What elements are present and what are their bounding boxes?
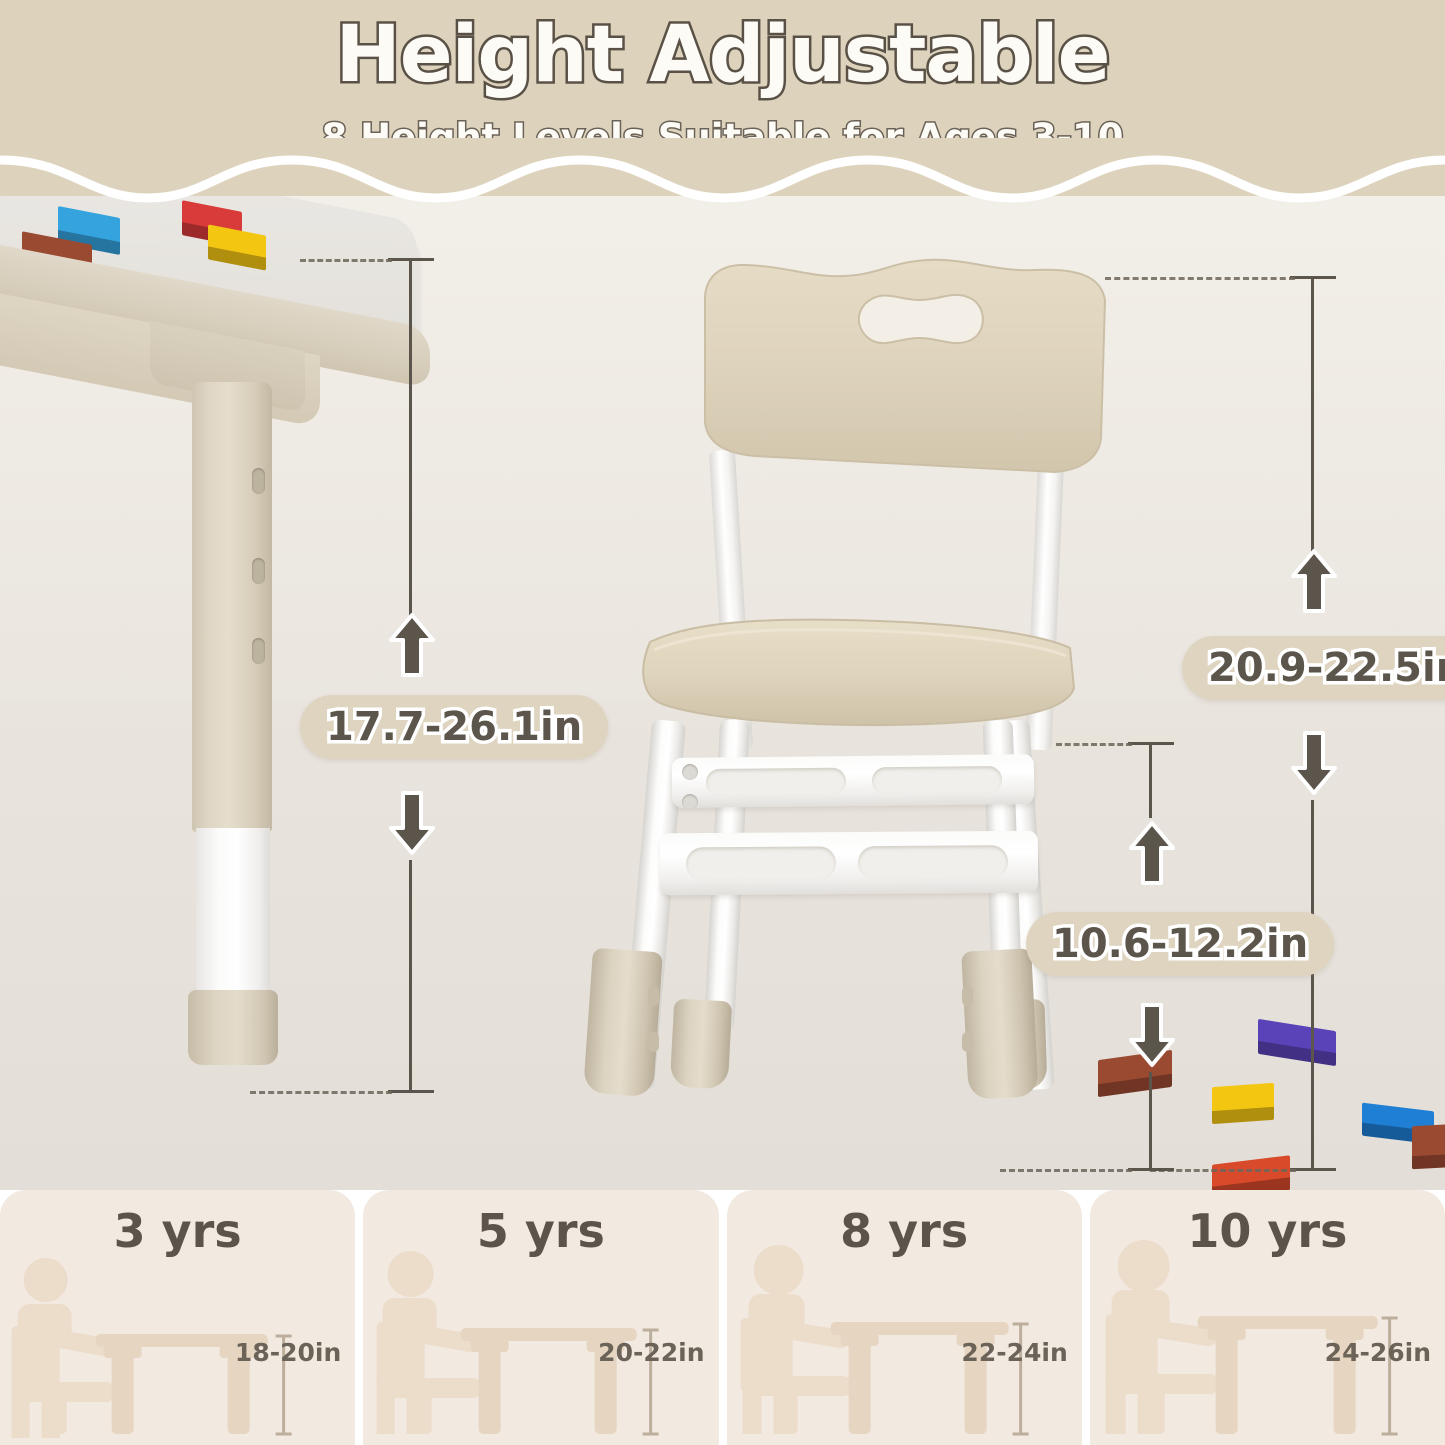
age-card-dimension: 18-20in xyxy=(235,1338,341,1367)
chair-backrest xyxy=(695,256,1115,491)
chair-foot-notch xyxy=(648,986,659,1006)
age-card-dimension: 22-24in xyxy=(961,1338,1067,1367)
label-chair-total-height: 20.9-22.5in xyxy=(1182,636,1445,700)
block-yellow xyxy=(1212,1083,1274,1113)
age-card-10yrs[interactable]: 10 yrs xyxy=(1090,1190,1445,1445)
age-card-5yrs[interactable]: 5 yrs xyxy=(363,1190,718,1445)
age-cards-row: 3 yrs xyxy=(0,1190,1445,1445)
chair-foot-front-right xyxy=(961,948,1039,1099)
scalloped-divider xyxy=(0,138,1445,206)
leg-adjust-hole xyxy=(252,468,265,494)
chair-brace-lower xyxy=(660,831,1038,896)
chair-screw xyxy=(682,764,698,780)
age-card-dimension: 24-26in xyxy=(1325,1338,1431,1367)
label-chair-total-height-text: 20.9-22.5in xyxy=(1208,645,1445,691)
arrow-up-icon xyxy=(1290,548,1338,614)
leg-adjust-hole xyxy=(252,558,265,584)
backrest-shape xyxy=(705,260,1105,472)
chair-foot-notch xyxy=(962,986,973,1006)
chair-seat xyxy=(628,608,1088,738)
arrow-down-icon xyxy=(388,790,436,856)
table-leg-upper xyxy=(192,382,272,832)
label-chair-seat-height-text: 10.6-12.2in xyxy=(1052,921,1308,967)
chair-screw xyxy=(682,794,698,810)
arrow-down-icon xyxy=(1128,1002,1176,1068)
chair-foot-notch xyxy=(962,1032,973,1052)
leg-adjust-hole xyxy=(252,638,265,664)
age-card-8yrs[interactable]: 8 yrs xyxy=(727,1190,1082,1445)
arrow-up-icon xyxy=(1128,820,1176,886)
chair-brace-upper xyxy=(672,754,1035,808)
table-leg-white-segment xyxy=(196,828,270,998)
label-table-height: 17.7-26.1in xyxy=(300,695,608,759)
backrest-handle-cutout xyxy=(859,295,983,343)
block-brown-2 xyxy=(1412,1124,1445,1158)
page-title: Height Adjustable xyxy=(0,10,1445,100)
chair-foot-rear-left xyxy=(670,999,733,1090)
label-chair-seat-height: 10.6-12.2in xyxy=(1026,912,1334,976)
chair-foot-notch xyxy=(648,1032,659,1052)
infographic-stage: 17.7-26.1in 20.9-22.5in xyxy=(0,0,1445,1445)
arrow-down-icon xyxy=(1290,730,1338,796)
age-card-dimension: 20-22in xyxy=(598,1338,704,1367)
table-foot-cap xyxy=(188,990,278,1065)
chair-foot-front-left xyxy=(583,948,663,1098)
arrow-up-icon xyxy=(388,612,436,678)
label-table-height-text: 17.7-26.1in xyxy=(326,704,582,750)
age-card-3yrs[interactable]: 3 yrs xyxy=(0,1190,355,1445)
